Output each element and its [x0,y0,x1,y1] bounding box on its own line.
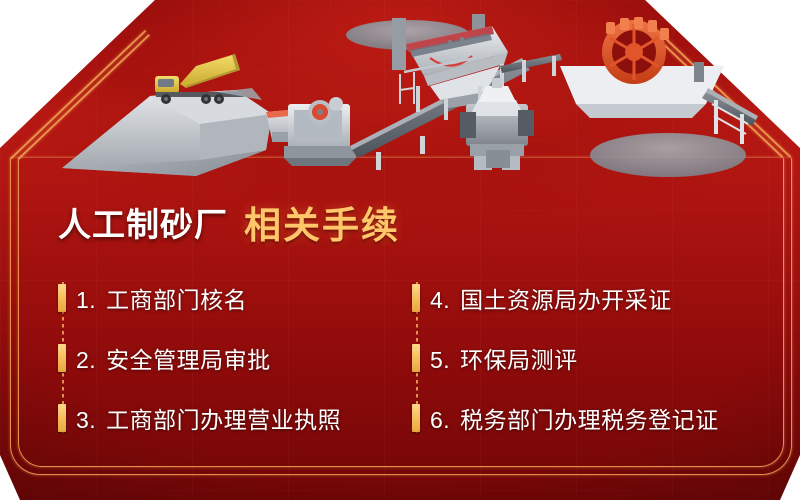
list-item-label: 安全管理局审批 [106,347,271,373]
list-item[interactable]: 4. 国土资源局办开采证 [412,268,772,328]
banner-title: 人工制砂厂 相关手续 [58,199,400,245]
list-item-text: 3. 工商部门办理营业执照 [76,401,341,435]
list-marker-bar [58,344,66,372]
list-marker-bar [58,284,66,312]
list-item-text: 1. 工商部门核名 [76,281,247,315]
dump-truck [155,54,262,104]
list-item-label: 工商部门办理营业执照 [106,407,341,433]
list-item[interactable]: 2. 安全管理局审批 [58,328,398,388]
sand-washing-machine [560,17,724,118]
jaw-crusher [284,97,356,166]
list-item-number: 3. [76,407,96,433]
list-item-number: 1. [76,287,96,313]
list-item-number: 5. [430,347,450,373]
list-marker-bar [412,404,420,432]
list-item-label: 税务部门办理税务登记证 [460,407,719,433]
procedure-list: 1. 工商部门核名 2. 安全管理局审批 3. 工商部门办理营业执照 [0,268,800,458]
list-item-label: 工商部门核名 [106,287,247,313]
list-marker-bar [412,284,420,312]
list-item-text: 2. 安全管理局审批 [76,341,271,375]
list-item-label: 国土资源局办开采证 [460,287,672,313]
list-item[interactable]: 3. 工商部门办理营业执照 [58,388,398,448]
screen-support-frame [400,72,414,104]
list-item-text: 5. 环保局测评 [430,341,578,375]
title-primary: 人工制砂厂 [58,198,228,246]
belt-conveyor-discharge [702,88,758,144]
list-item-number: 6. [430,407,450,433]
list-item-number: 2. [76,347,96,373]
sand-plant-illustration [0,0,800,190]
list-item-text: 6. 税务部门办理税务登记证 [430,401,719,435]
sand-pile-right [590,133,746,177]
list-item[interactable]: 1. 工商部门核名 [58,268,398,328]
procedure-column-right: 4. 国土资源局办开采证 5. 环保局测评 6. 税务部门办理税务登记证 [412,268,772,448]
list-item-number: 4. [430,287,450,313]
list-marker-bar [412,344,420,372]
list-item-text: 4. 国土资源局办开采证 [430,281,672,315]
list-item[interactable]: 5. 环保局测评 [412,328,772,388]
banner-root: 人工制砂厂 相关手续 1. 工商部门核名 2. 安全管理局审批 [0,0,800,500]
list-item[interactable]: 6. 税务部门办理税务登记证 [412,388,772,448]
list-item-label: 环保局测评 [460,347,578,373]
procedure-column-left: 1. 工商部门核名 2. 安全管理局审批 3. 工商部门办理营业执照 [58,268,398,448]
list-marker-bar [58,404,66,432]
title-highlight: 相关手续 [244,195,400,249]
